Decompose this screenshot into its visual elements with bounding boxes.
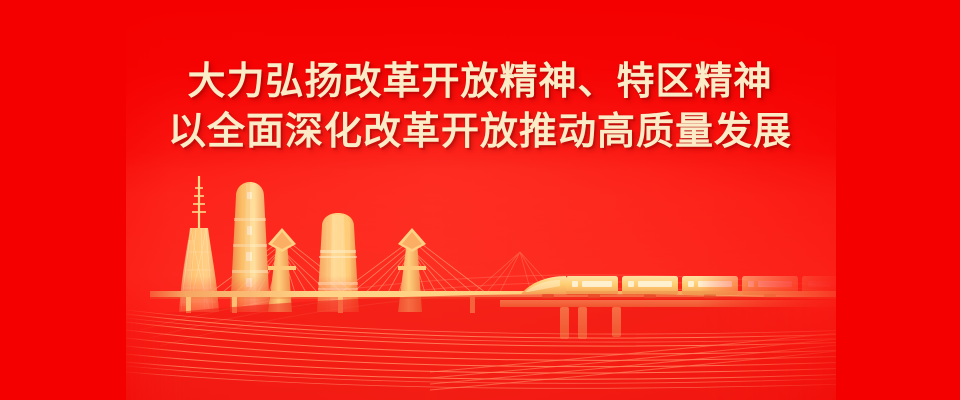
canton-tower-antenna xyxy=(192,176,206,228)
title-line-1: 大力弘扬改革开放精神、特区精神 xyxy=(0,62,960,100)
bridge-pylon-left xyxy=(266,228,298,312)
banner-title: 大力弘扬改革开放精神、特区精神 以全面深化改革开放推动高质量发展 xyxy=(0,62,960,150)
left-red-panel xyxy=(0,0,126,400)
title-line-2: 以全面深化改革开放推动高质量发展 xyxy=(0,112,960,150)
foreground-sweep xyxy=(120,294,840,400)
promo-banner: 大力弘扬改革开放精神、特区精神 以全面深化改革开放推动高质量发展 广州城市天际线… xyxy=(0,0,960,400)
right-red-panel xyxy=(836,0,960,400)
